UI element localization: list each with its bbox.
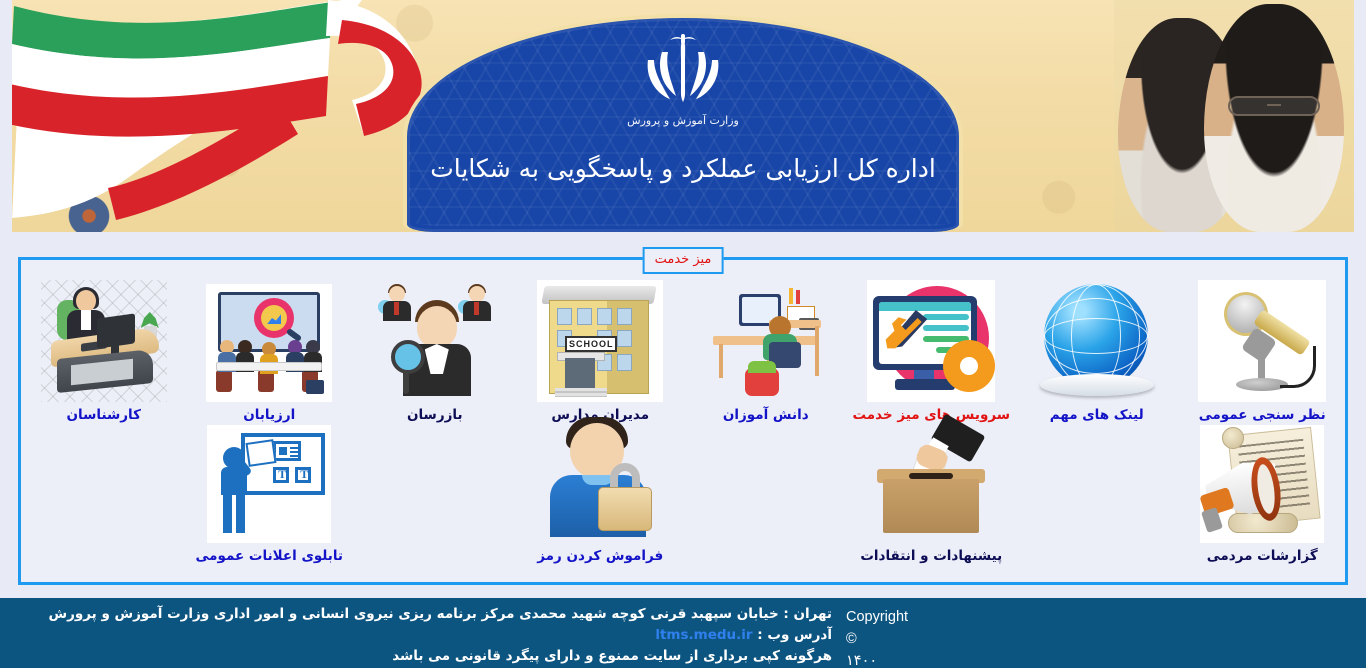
service-item-label: دانش آموزان (683, 407, 849, 423)
service-item-label: بازرسان (352, 407, 518, 423)
iran-emblem-icon (640, 34, 726, 108)
page-root: وزارت آموزش و پرورش اداره کل ارزیابی عمل… (0, 0, 1366, 668)
globe-icon (1036, 280, 1158, 402)
iran-flag-ribbon-icon (12, 0, 432, 232)
service-item-label: گزارشات مردمی (1180, 548, 1346, 564)
service-desk-panel: میز خدمت نظر سنجی عمومی لینک های مهم (18, 257, 1348, 585)
service-item-public-reports[interactable]: گزارشات مردمی (1180, 423, 1346, 564)
portrait-glasses-icon (1228, 96, 1320, 116)
student-desk-icon (707, 280, 825, 402)
footer-legal-notice: هرگونه کپی برداری از سایت ممنوع و دارای … (0, 646, 832, 667)
ballot-box-icon (869, 425, 993, 543)
service-item-important-links[interactable]: لینک های مهم (1014, 282, 1180, 423)
footer-web-label: آدرس وب : (757, 627, 832, 643)
service-item-label: کارشناسان (21, 407, 187, 423)
service-item-service-desk-services[interactable]: سرویس های میز خدمت (849, 282, 1015, 423)
megaphone-scroll-icon (1200, 425, 1324, 543)
service-item-forgot-password[interactable]: فراموش کردن رمز (518, 423, 684, 564)
service-row-1: نظر سنجی عمومی لینک های مهم (21, 260, 1345, 423)
service-item-school-principals[interactable]: SCHOOL مدیران مدارس (518, 282, 684, 423)
person-padlock-icon (538, 421, 662, 543)
service-cell-spacer (21, 423, 187, 564)
service-item-label: تابلوی اعلانات عمومی (187, 548, 353, 564)
service-row-2: گزارشات مردمی پیشنهادات و انتقادات ف (21, 423, 1345, 564)
service-item-evaluators[interactable]: ارزیابان (187, 282, 353, 423)
service-item-inspectors[interactable]: بازرسان (352, 282, 518, 423)
footer-left-column: Copyright © ۱۴۰۰ Shakhes Rayane Sepahan … (846, 598, 1366, 668)
footer-web-row: آدرس وب : ltms.medu.ir (0, 625, 832, 646)
service-item-public-bulletin-board[interactable]: تابلوی اعلانات عمومی (187, 423, 353, 564)
footer-web-link[interactable]: ltms.medu.ir (655, 627, 752, 643)
service-cell-spacer (1014, 423, 1180, 564)
banner-plaque: وزارت آموزش و پرورش اداره کل ارزیابی عمل… (403, 14, 963, 232)
service-item-label: فراموش کردن رمز (518, 548, 684, 564)
school-building-icon: SCHOOL (537, 280, 663, 402)
footer-right-column: تهران : خیابان سپهبد قرنی کوچه شهید محمد… (0, 598, 846, 668)
evaluators-meeting-icon (206, 284, 332, 402)
site-banner: وزارت آموزش و پرورش اداره کل ارزیابی عمل… (12, 0, 1354, 232)
service-desk-monitor-icon (867, 280, 995, 402)
microphone-icon (1198, 280, 1326, 402)
service-item-label: ارزیابان (187, 407, 353, 423)
service-cell-spacer (352, 423, 518, 564)
inspector-magnifier-icon (375, 280, 495, 402)
banner-ministry-line: وزارت آموزش و پرورش (627, 114, 739, 127)
service-item-label: نظر سنجی عمومی (1180, 407, 1346, 423)
footer-address: تهران : خیابان سپهبد قرنی کوچه شهید محمد… (0, 604, 832, 625)
expert-desk-icon (41, 280, 167, 402)
service-item-label: لینک های مهم (1014, 407, 1180, 423)
service-item-label: پیشنهادات و انتقادات (849, 548, 1015, 564)
service-item-students[interactable]: دانش آموزان (683, 282, 849, 423)
panel-tab-service-desk[interactable]: میز خدمت (643, 247, 724, 274)
site-footer: Copyright © ۱۴۰۰ Shakhes Rayane Sepahan … (0, 598, 1366, 668)
service-item-suggestions-complaints[interactable]: پیشنهادات و انتقادات (849, 423, 1015, 564)
leaders-portraits (1114, 0, 1354, 232)
service-item-experts[interactable]: کارشناسان (21, 282, 187, 423)
footer-copyright: Copyright © ۱۴۰۰ Shakhes Rayane Sepahan (846, 606, 1366, 668)
portrait-khamenei-icon (1204, 4, 1344, 232)
banner-office-line: اداره کل ارزیابی عملکرد و پاسخگویی به شک… (430, 154, 936, 183)
service-item-poll[interactable]: نظر سنجی عمومی (1180, 282, 1346, 423)
bulletin-board-icon (207, 425, 331, 543)
service-item-label: سرویس های میز خدمت (849, 407, 1015, 423)
service-cell-spacer (683, 423, 849, 564)
